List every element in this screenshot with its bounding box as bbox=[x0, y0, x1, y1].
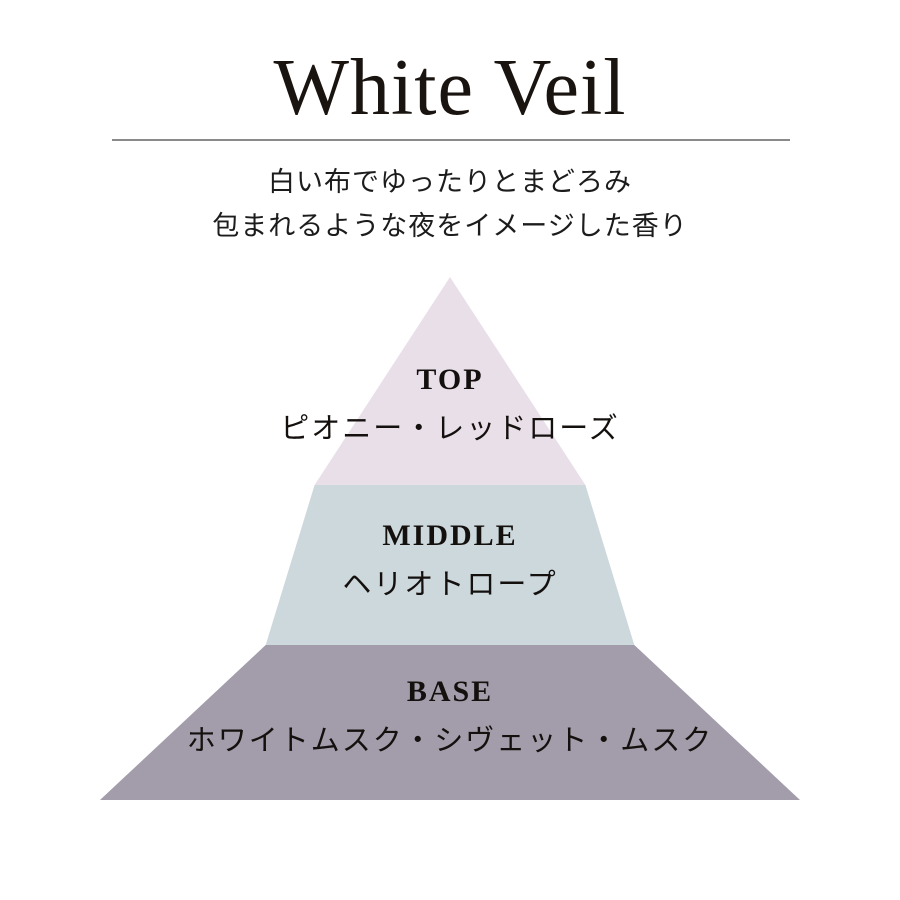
pyramid-labels: TOP ピオニー・レッドローズ MIDDLE ヘリオトロープ BASE ホワイト… bbox=[0, 0, 900, 900]
page-title: White Veil bbox=[0, 0, 900, 128]
layer-middle-notes: ヘリオトロープ bbox=[0, 571, 900, 600]
product-description: 白い布でゆったりとまどろみ 包まれるような夜をイメージした香り bbox=[0, 160, 900, 248]
pyramid-band-top bbox=[315, 277, 586, 485]
layer-top-notes: ピオニー・レッドローズ bbox=[0, 415, 900, 444]
description-line-1: 白い布でゆったりとまどろみ bbox=[0, 160, 900, 204]
layer-middle-name: MIDDLE bbox=[0, 521, 900, 551]
layer-base-notes: ホワイトムスク・シヴェット・ムスク bbox=[0, 727, 900, 756]
fragrance-pyramid: TOP ピオニー・レッドローズ MIDDLE ヘリオトロープ BASE ホワイト… bbox=[0, 0, 900, 900]
header: White Veil bbox=[0, 0, 900, 128]
pyramid-layer-top: TOP ピオニー・レッドローズ bbox=[0, 365, 900, 444]
pyramid-band-base bbox=[100, 645, 800, 800]
layer-base-name: BASE bbox=[0, 677, 900, 707]
fragrance-pyramid-page: White Veil 白い布でゆったりとまどろみ 包まれるような夜をイメージした… bbox=[0, 0, 900, 900]
description-line-2: 包まれるような夜をイメージした香り bbox=[0, 204, 900, 248]
title-divider bbox=[112, 139, 790, 141]
pyramid-band-middle bbox=[266, 485, 635, 645]
layer-top-name: TOP bbox=[0, 365, 900, 395]
pyramid-svg bbox=[0, 0, 900, 900]
pyramid-layer-middle: MIDDLE ヘリオトロープ bbox=[0, 521, 900, 600]
pyramid-layer-base: BASE ホワイトムスク・シヴェット・ムスク bbox=[0, 677, 900, 756]
